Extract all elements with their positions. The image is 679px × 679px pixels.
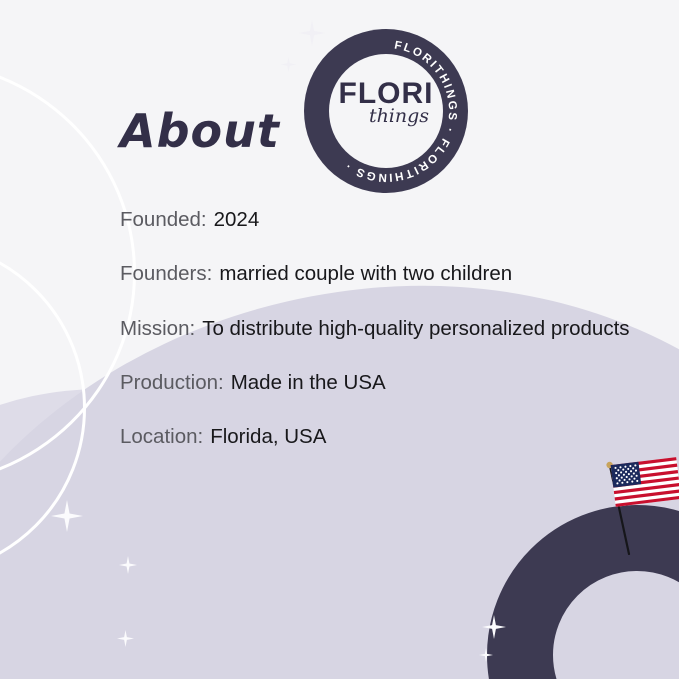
- white-arc-line-outer: [0, 60, 136, 486]
- sparkle-star-icon: [281, 57, 296, 72]
- flag-canton: [611, 462, 642, 488]
- info-row-mission: Mission: To distribute high-quality pers…: [120, 315, 640, 343]
- flag-cloth: [611, 457, 679, 507]
- white-arc-line-inner: [0, 240, 86, 576]
- info-value: married couple with two children: [219, 260, 512, 288]
- info-row-founders: Founders: married couple with two childr…: [120, 260, 640, 288]
- about-card: FLORITHINGS · FLORITHINGS · FLORI things…: [0, 0, 679, 679]
- us-flag-icon: [596, 450, 679, 555]
- sparkle-star-icon: [479, 648, 493, 662]
- info-value: To distribute high-quality personalized …: [202, 315, 629, 343]
- info-label: Location:: [120, 423, 203, 451]
- brand-logo: FLORITHINGS · FLORITHINGS · FLORI things: [302, 27, 470, 195]
- info-value: Made in the USA: [231, 369, 386, 397]
- info-label: Founders:: [120, 260, 212, 288]
- about-info-list: Founded: 2024 Founders: married couple w…: [120, 206, 640, 477]
- info-label: Founded:: [120, 206, 207, 234]
- info-label: Production:: [120, 369, 224, 397]
- sparkle-star-icon: [119, 556, 137, 574]
- page-title: About: [120, 108, 280, 154]
- sparkle-star-icon: [117, 630, 134, 647]
- logo-center-wordmark: FLORI things: [302, 79, 470, 126]
- info-row-founded: Founded: 2024: [120, 206, 640, 234]
- sparkle-star-icon: [482, 615, 506, 639]
- info-row-production: Production: Made in the USA: [120, 369, 640, 397]
- info-value: 2024: [214, 206, 260, 234]
- sparkle-star-icon: [51, 500, 83, 532]
- info-value: Florida, USA: [210, 423, 326, 451]
- info-row-location: Location: Florida, USA: [120, 423, 640, 451]
- info-label: Mission:: [120, 315, 195, 343]
